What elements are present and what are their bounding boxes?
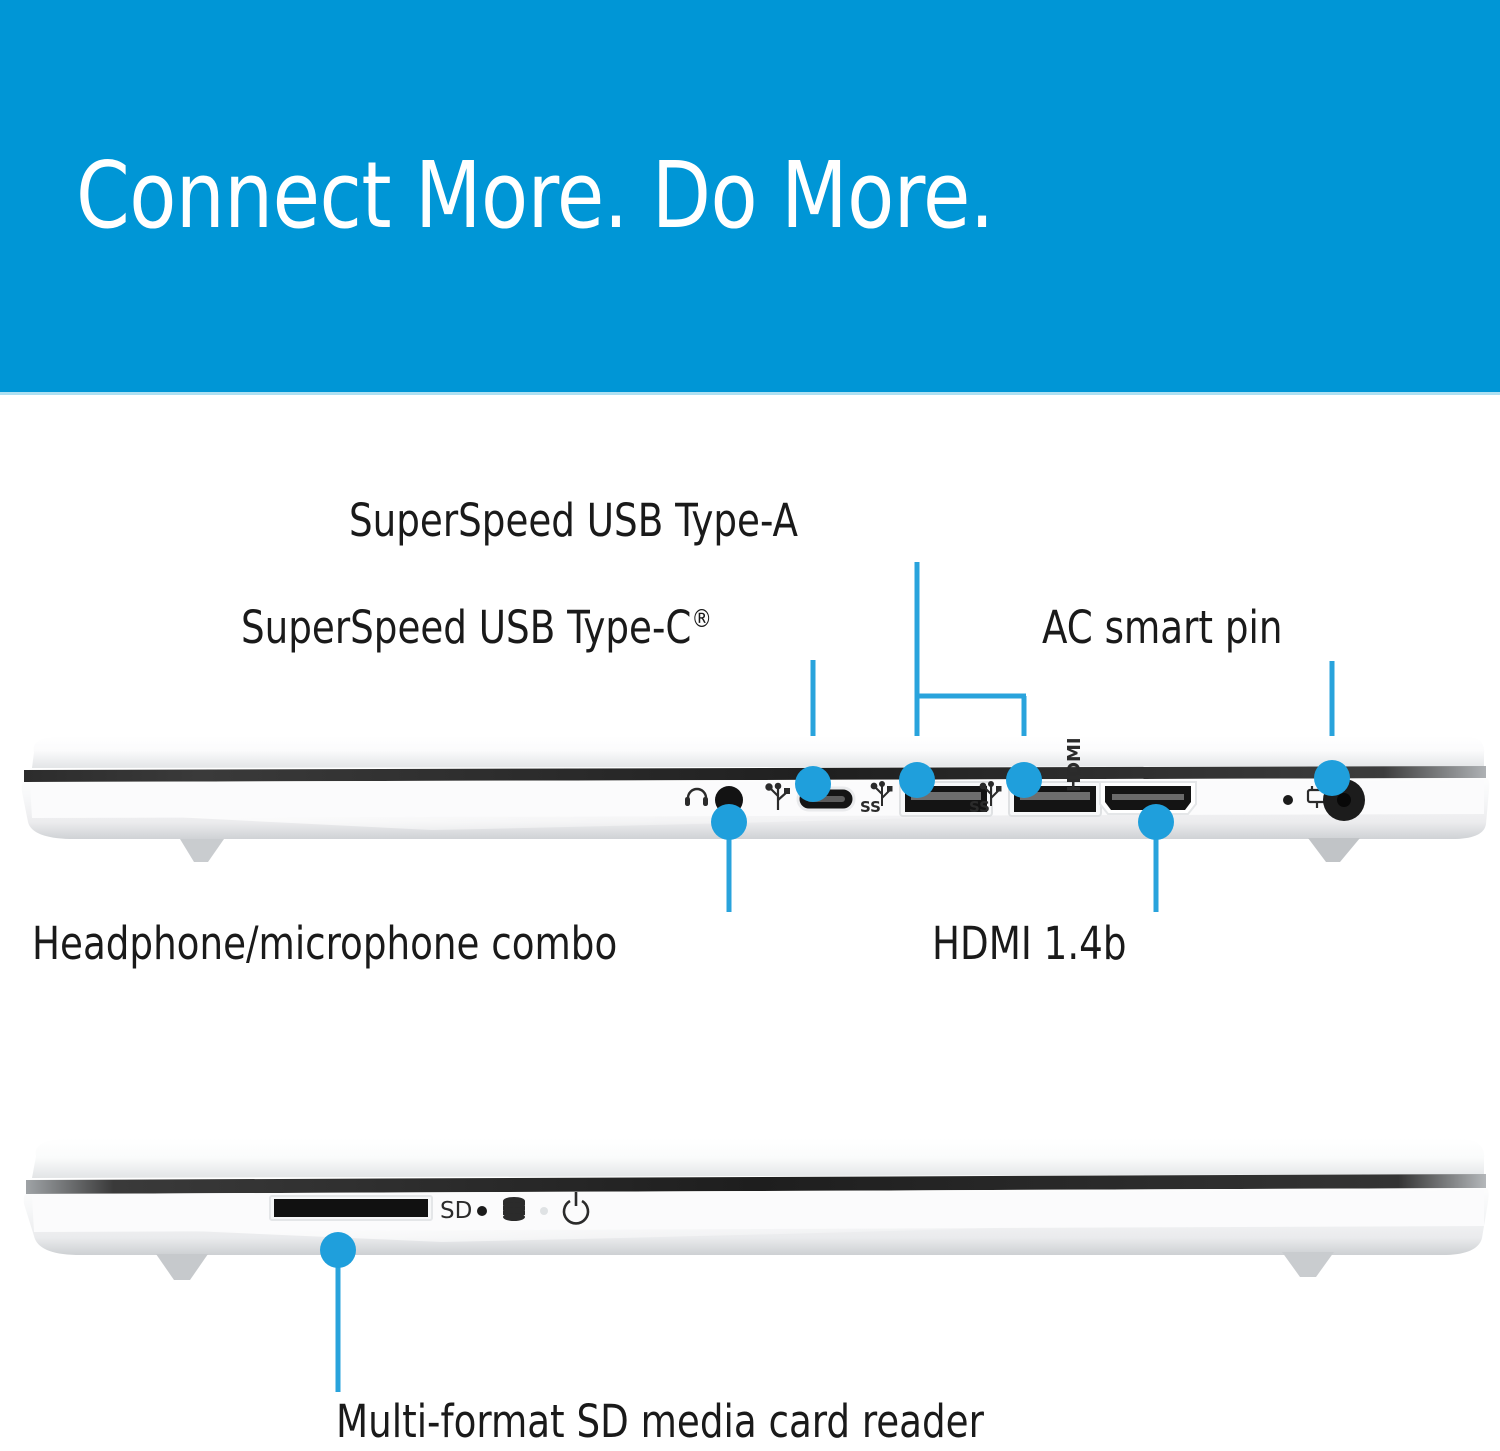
laptop-lid	[32, 736, 1484, 768]
laptop-foot-right	[1308, 838, 1360, 862]
laptop2-lid	[32, 1138, 1484, 1178]
label-multi-format-sd-media-card-reader: Multi-format SD media card reader	[336, 1398, 984, 1445]
sd-text-icon: SD	[440, 1198, 472, 1224]
callout-dot-hdmi	[1138, 804, 1174, 840]
laptop2-foot-left	[156, 1254, 208, 1280]
laptop-bottom-svg: SD	[12, 1130, 1490, 1290]
page-title: Connect More. Do More.	[76, 150, 994, 242]
callout-dot-usb-a-1	[899, 762, 935, 798]
callout-dot-headphone	[711, 804, 747, 840]
ac-power-jack-pin	[1337, 793, 1351, 807]
laptop2-port-strip	[32, 1190, 1484, 1232]
label-usb-c-text: SuperSpeed USB Type-C	[241, 601, 691, 654]
banner-underline-divider	[0, 392, 1500, 395]
power-led-icon	[540, 1207, 548, 1215]
sd-card-slot-icon	[274, 1199, 428, 1217]
svg-text:SS: SS	[969, 798, 990, 816]
drive-activity-icon	[503, 1197, 525, 1221]
registered-trademark-symbol: ®	[691, 604, 711, 633]
label-superspeed-usb-type-c: SuperSpeed USB Type-C®	[241, 604, 712, 651]
laptop-left-side-profile: SD	[12, 1130, 1490, 1290]
hdmi-port-tongue	[1112, 794, 1184, 800]
header-banner: Connect More. Do More.	[0, 0, 1500, 392]
label-headphone-microphone-combo: Headphone/microphone combo	[32, 920, 617, 967]
laptop2-foot-right	[1282, 1252, 1334, 1277]
laptop-foot-left	[180, 839, 224, 862]
laptop-port-strip	[30, 780, 1484, 818]
svg-text:SS: SS	[860, 798, 881, 816]
callout-dot-usb-a-2	[1006, 762, 1042, 798]
callout-dot-usb-c	[795, 766, 831, 802]
label-hdmi-1-4b: HDMI 1.4b	[932, 920, 1127, 967]
laptop-right-side-profile: SS SS HDMI	[12, 726, 1490, 866]
laptop-top-svg: SS SS HDMI	[12, 726, 1490, 866]
sd-activity-led-icon	[477, 1206, 487, 1216]
label-ac-smart-pin: AC smart pin	[1042, 604, 1282, 651]
label-superspeed-usb-type-a: SuperSpeed USB Type-A	[349, 497, 798, 544]
callout-dot-ac-smart-pin	[1314, 760, 1350, 796]
callout-dot-sd-reader	[320, 1232, 356, 1268]
battery-led-icon	[1283, 795, 1293, 805]
hdmi-text-icon: HDMI	[1064, 737, 1085, 792]
